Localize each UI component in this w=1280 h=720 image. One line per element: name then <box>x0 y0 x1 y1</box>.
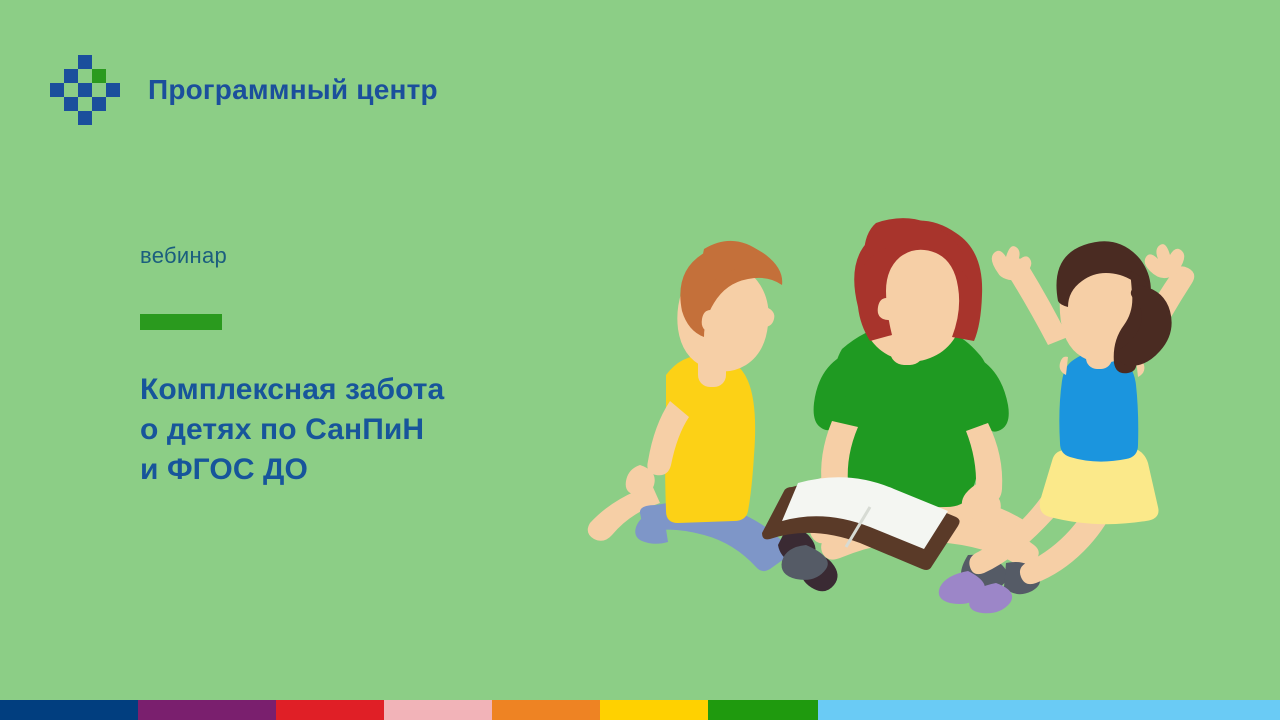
color-band-green <box>708 700 818 720</box>
accent-divider <box>140 314 222 330</box>
logo-cell-2-2 <box>78 83 92 97</box>
logo-cell-2-0 <box>50 83 64 97</box>
teacher-reading-to-children-illustration <box>570 215 1230 615</box>
color-band-navy <box>0 700 138 720</box>
logo-cell-4-2 <box>78 111 92 125</box>
logo-cell-3-1 <box>64 97 78 111</box>
checkerboard-cross-icon <box>50 55 120 125</box>
logo-cell-3-3 <box>92 97 106 111</box>
color-band-yellow <box>600 700 708 720</box>
brand-name: Программный центр <box>148 74 438 106</box>
boy-sitting-figure <box>588 241 838 591</box>
webinar-title-slide: Программный центр вебинар Комплексная за… <box>0 0 1280 720</box>
eyebrow-label: вебинар <box>140 243 580 269</box>
title-line-3: и ФГОС ДО <box>140 450 580 490</box>
title-block: вебинар Комплексная забота о детях по Са… <box>140 243 580 490</box>
logo-cell-1-1 <box>64 69 78 83</box>
title-line-1: Комплексная забота <box>140 370 580 410</box>
brand-logo: Программный центр <box>50 55 438 125</box>
color-band-pink <box>384 700 492 720</box>
logo-cell-0-2 <box>78 55 92 69</box>
logo-cell-2-4 <box>106 83 120 97</box>
color-band-light-blue <box>818 700 1280 720</box>
page-title: Комплексная забота о детях по СанПиН и Ф… <box>140 370 580 490</box>
title-line-2: о детях по СанПиН <box>140 410 580 450</box>
color-band-orange <box>492 700 600 720</box>
logo-cell-1-3 <box>92 69 106 83</box>
color-band-purple <box>138 700 276 720</box>
brand-color-strip <box>0 700 1280 720</box>
color-band-red <box>276 700 384 720</box>
